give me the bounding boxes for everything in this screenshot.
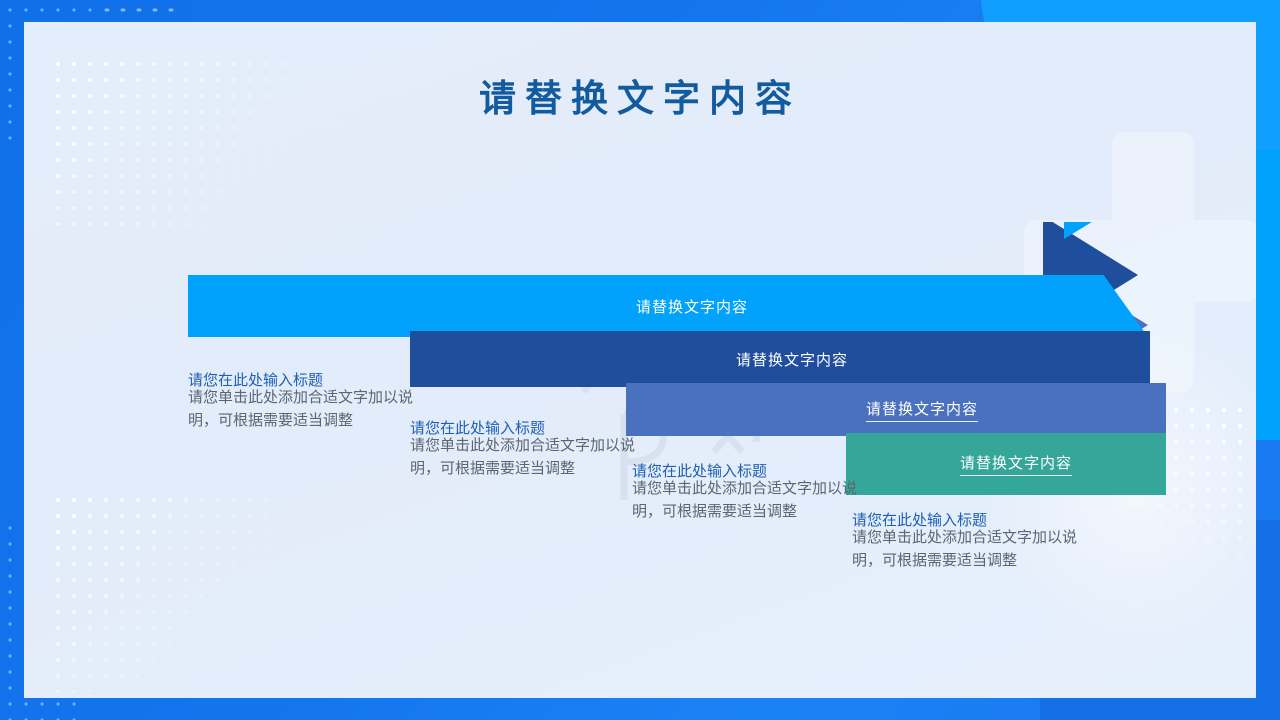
arrow-label-4: 请替换文字内容 xyxy=(960,452,1072,476)
arrow-label-2: 请替换文字内容 xyxy=(736,349,848,370)
text-block-3-body: 请您单击此处添加合适文字加以说明，可根据需要适当调整 xyxy=(632,477,877,523)
text-block-4[interactable]: 请您在此处输入标题 请您单击此处添加合适文字加以说明，可根据需要适当调整 xyxy=(852,512,1097,572)
arrow-bar-4[interactable]: 请替换文字内容 xyxy=(846,433,1166,495)
text-block-4-body: 请您单击此处添加合适文字加以说明，可根据需要适当调整 xyxy=(852,526,1097,572)
arrow-label-3: 请替换文字内容 xyxy=(866,398,978,422)
text-block-1[interactable]: 请您在此处输入标题 请您单击此处添加合适文字加以说明，可根据需要适当调整 xyxy=(188,372,433,432)
arrow-bar-1[interactable]: 请替换文字内容 xyxy=(188,275,1148,337)
arrow-bar-2[interactable]: 请替换文字内容 xyxy=(410,331,1150,387)
arrow-bar-3[interactable]: 请替换文字内容 xyxy=(626,383,1166,436)
text-block-1-body: 请您单击此处添加合适文字加以说明，可根据需要适当调整 xyxy=(188,386,433,432)
text-block-2[interactable]: 请您在此处输入标题 请您单击此处添加合适文字加以说明，可根据需要适当调整 xyxy=(410,420,655,480)
text-block-2-body: 请您单击此处添加合适文字加以说明，可根据需要适当调整 xyxy=(410,434,655,480)
text-block-3[interactable]: 请您在此处输入标题 请您单击此处添加合适文字加以说明，可根据需要适当调整 xyxy=(632,463,877,523)
page-title: 请替换文字内容 xyxy=(24,68,1256,122)
slide-canvas: 请替换文字内容 请替换文字内容 xyxy=(0,0,1280,720)
arrow-label-1: 请替换文字内容 xyxy=(636,296,748,317)
slide-card: 请替换文字内容 请替换文字内容 xyxy=(24,22,1256,698)
